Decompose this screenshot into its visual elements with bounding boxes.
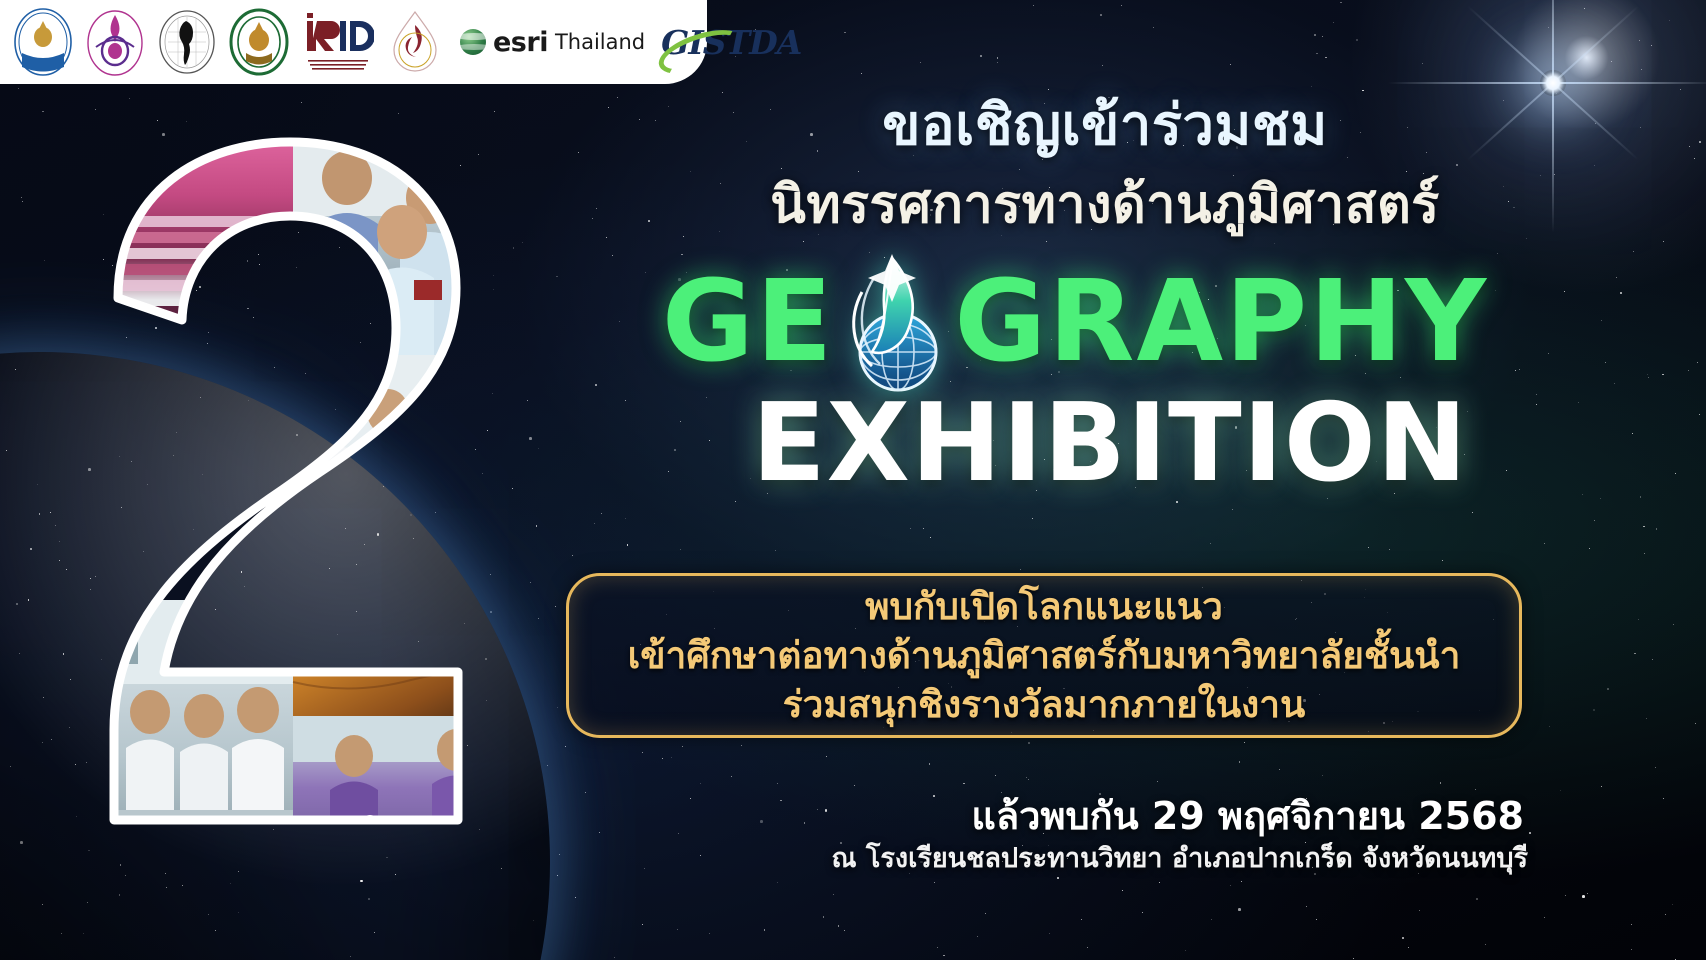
rid-royal-irrigation-department-logo-icon (300, 7, 374, 77)
photo-students-terrain-model (293, 355, 528, 600)
exhibition-subtitle: EXHIBITION (700, 390, 1520, 498)
geography-text-part-2: GRAPHY (954, 266, 1488, 378)
headline-line-2: นิทรรศการทางด้านภูมิศาสตร์ (700, 178, 1510, 233)
globe-leaf-emblem-icon (828, 248, 960, 396)
gistda-logo: GISTDA (661, 26, 801, 59)
photo-purple-shirt-staff (293, 716, 528, 860)
callout-line-1: พบกับเปิดโลกแนะแนว (865, 584, 1223, 629)
callout-line-2: เข้าศึกษาต่อทางด้านภูมิศาสตร์กับมหาวิทยา… (628, 633, 1461, 678)
esri-thailand-logo: esri Thailand (460, 29, 645, 56)
callout-line-3: ร่วมสนุกชิงรางวัลมากภายในงาน (783, 682, 1306, 727)
thailand-map-seal-icon (156, 7, 218, 77)
geography-wordmark: GE (640, 252, 1510, 392)
headline-line-1: ขอเชิญเข้าร่วมชม (745, 96, 1465, 155)
event-location-text: ณ โรงเรียนชลประทานวิทยา อำเภอปากเกร็ด จั… (831, 836, 1528, 879)
photo-officials-briefing (293, 120, 528, 355)
photo-pink-auditorium (58, 120, 293, 370)
numeral-two-mask (58, 120, 528, 860)
esri-thailand-label: Thailand (555, 32, 645, 53)
geography-text-part-1: GE (662, 266, 834, 378)
royal-thai-survey-department-seal-green-icon (228, 7, 290, 77)
esri-wordmark: esri (493, 29, 548, 56)
royal-thai-survey-seal-blue-icon (12, 7, 74, 77)
esri-globe-icon (460, 29, 486, 55)
numeral-two-photo-collage (58, 120, 528, 860)
callout-box: พบกับเปิดโลกแนะแนว เข้าศึกษาต่อทางด้านภู… (566, 573, 1522, 738)
groundwater-resources-seal-icon (384, 7, 446, 77)
ministry-emblem-pink-icon (84, 7, 146, 77)
photo-earth-terrain (293, 600, 528, 716)
poster-root: esri Thailand GISTDA (0, 0, 1706, 960)
sponsor-logo-bar: esri Thailand GISTDA (0, 0, 707, 84)
